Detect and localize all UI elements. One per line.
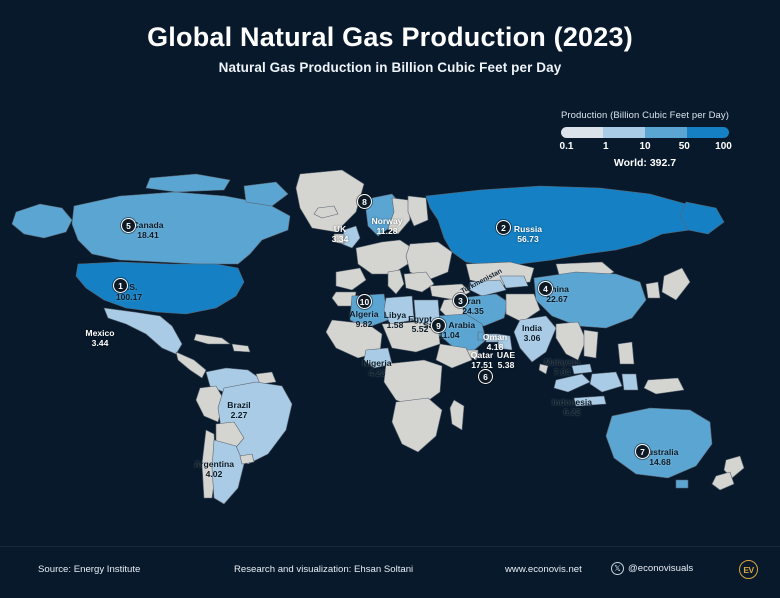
rank-marker-saudi-arabia: 9: [431, 318, 446, 333]
country-uzbekistan: [500, 276, 528, 288]
country-greenland: [296, 170, 364, 232]
footer-social-handle: @econovisuals: [628, 563, 693, 574]
country-malaysia: [572, 364, 592, 374]
world-map-svg: [0, 168, 780, 543]
footer-credit: Research and visualization: Ehsan Soltan…: [234, 564, 413, 575]
legend-swatch-3: [687, 127, 729, 138]
country-southern-africa: [392, 398, 442, 452]
country-united-states: [76, 262, 244, 314]
country-papua-new-guinea: [644, 378, 684, 394]
country-myanmar-thailand: [556, 322, 586, 360]
country-sri-lanka: [539, 364, 548, 374]
country-canada-arctic: [146, 174, 230, 192]
rank-marker-australia: 7: [635, 444, 650, 459]
country-australia: [606, 408, 712, 478]
x-icon: 𝕏: [611, 562, 624, 575]
footer-social-link[interactable]: 𝕏 @econovisuals: [611, 562, 693, 575]
page-subtitle: Natural Gas Production in Billion Cubic …: [0, 60, 780, 75]
country-philippines: [618, 342, 634, 364]
country-india: [514, 316, 556, 362]
country-indonesia-java: [574, 396, 606, 406]
country-western-europe: [356, 240, 412, 274]
rank-marker-canada: 5: [121, 218, 136, 233]
country-libya: [384, 296, 414, 324]
country-japan: [662, 268, 690, 300]
footer-source: Source: Energy Institute: [38, 564, 140, 575]
country-ireland: [334, 234, 344, 244]
country-iberia: [336, 268, 366, 290]
legend-color-bar: [561, 127, 729, 138]
country-qatar: [478, 332, 484, 340]
rank-marker-china: 4: [538, 281, 553, 296]
country-turkmenistan: [470, 280, 506, 296]
country-vietnam: [584, 330, 598, 358]
legend-tick-4: 100: [710, 141, 738, 152]
rank-marker-u-s-: 1: [113, 278, 128, 293]
legend-swatch-0: [561, 127, 603, 138]
world-map: U.S.100.171Russia56.732Iran24.353China22…: [0, 168, 780, 543]
country-oman: [498, 334, 512, 350]
infographic-canvas: Global Natural Gas Production (2023) Nat…: [0, 0, 780, 598]
legend-tick-0: 0.1: [553, 141, 581, 152]
legend-tick-1: 1: [592, 141, 620, 152]
country-uruguay: [240, 454, 254, 464]
legend-tick-2: 10: [631, 141, 659, 152]
country-indonesia-sumatra: [554, 374, 590, 392]
page-title: Global Natural Gas Production (2023): [0, 22, 780, 53]
rank-marker-iran: 3: [453, 293, 468, 308]
country-russia: [426, 186, 700, 266]
econovis-logo: EV: [739, 560, 758, 579]
country-korea: [646, 282, 660, 298]
country-hispaniola: [232, 344, 250, 352]
country-cuba: [194, 334, 230, 344]
country-italy: [388, 270, 404, 294]
country-tasmania: [676, 480, 688, 488]
country-indonesia-sulawesi: [622, 374, 638, 390]
country-central-america: [176, 352, 206, 378]
country-new-zealand-south: [712, 472, 734, 490]
rank-marker-norway: 8: [357, 194, 372, 209]
footer: Source: Energy Institute Research and vi…: [0, 546, 780, 598]
country-china: [534, 272, 646, 328]
legend-title: Production (Billion Cubic Feet per Day): [540, 110, 750, 121]
country-indonesia-borneo: [590, 372, 622, 392]
legend-tick-labels: 0.111050100: [553, 141, 738, 152]
legend-tick-3: 50: [670, 141, 698, 152]
header: Global Natural Gas Production (2023) Nat…: [0, 22, 780, 75]
country-canada-baffin: [244, 182, 288, 206]
country-alaska: [12, 204, 72, 238]
legend-swatch-1: [603, 127, 645, 138]
rank-marker-qatar: 6: [478, 369, 493, 384]
footer-website-link[interactable]: www.econovis.net: [505, 564, 582, 575]
rank-marker-algeria: 10: [357, 294, 372, 309]
country-madagascar: [450, 400, 464, 430]
legend: Production (Billion Cubic Feet per Day) …: [540, 110, 750, 169]
legend-swatch-2: [645, 127, 687, 138]
rank-marker-russia: 2: [496, 220, 511, 235]
country-mexico: [104, 308, 182, 354]
country-united-kingdom: [342, 226, 360, 248]
country-finland: [408, 196, 428, 226]
